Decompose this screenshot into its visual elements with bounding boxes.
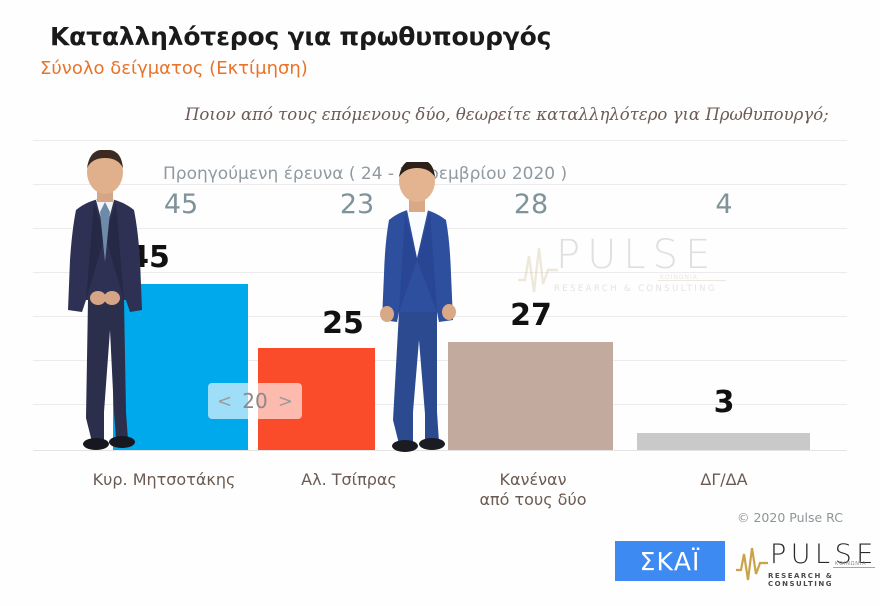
- value-label-mitsotakis: 45: [89, 240, 209, 275]
- axis-baseline: [33, 450, 847, 451]
- page-title: Καταλληλότερος για πρωθυπουργός: [50, 22, 551, 51]
- copyright-text: © 2020 Pulse RC: [737, 510, 843, 525]
- xlabel-neither: Κανέναν από τους δύο: [443, 470, 623, 511]
- pulse-logo-rule: [833, 567, 875, 568]
- value-label-neither: 27: [471, 298, 591, 333]
- pulse-logo: PULSE ΚΟΙΝΩΝΙΑ RESEARCH & CONSULTING: [735, 540, 875, 584]
- pulse-logo-tagline: RESEARCH & CONSULTING: [768, 572, 875, 588]
- xlabel-line: ΔΓ/ΔΑ: [634, 470, 814, 490]
- skai-logo-text: ΣΚΑΪ: [640, 547, 701, 576]
- stepper-next-button[interactable]: >: [278, 391, 293, 412]
- xlabel-tsipras: Αλ. Τσίπρας: [259, 470, 439, 490]
- stepper-prev-button[interactable]: <: [217, 391, 232, 412]
- value-label-tsipras: 25: [283, 306, 403, 341]
- skai-logo: ΣΚΑΪ: [615, 541, 725, 581]
- bar-neither[interactable]: [448, 342, 613, 450]
- xlabel-line: Κανέναν: [443, 470, 623, 490]
- bar-mitsotakis[interactable]: [113, 284, 248, 450]
- value-label-dkna: 3: [664, 385, 784, 420]
- stepper-value: 20: [242, 389, 267, 413]
- value-stepper[interactable]: < 20 >: [208, 383, 302, 419]
- xlabel-line: Κυρ. Μητσοτάκης: [74, 470, 254, 490]
- poll-question: Ποιον από τους επόμενους δύο, θεωρείτε κ…: [185, 105, 829, 124]
- xlabel-line: Αλ. Τσίπρας: [259, 470, 439, 490]
- pulse-wave-icon: [735, 544, 769, 584]
- page-subtitle: Σύνολο δείγματος (Εκτίμηση): [40, 58, 308, 79]
- xlabel-line: από τους δύο: [443, 490, 623, 510]
- bar-dkna[interactable]: [637, 433, 810, 450]
- pulse-logo-koinonia: ΚΟΙΝΩΝΙΑ: [835, 561, 866, 567]
- xlabel-mitsotakis: Κυρ. Μητσοτάκης: [74, 470, 254, 490]
- xlabel-dkna: ΔΓ/ΔΑ: [634, 470, 814, 490]
- poll-chart-slide: Καταλληλότερος για πρωθυπουργός Σύνολο δ…: [0, 0, 880, 606]
